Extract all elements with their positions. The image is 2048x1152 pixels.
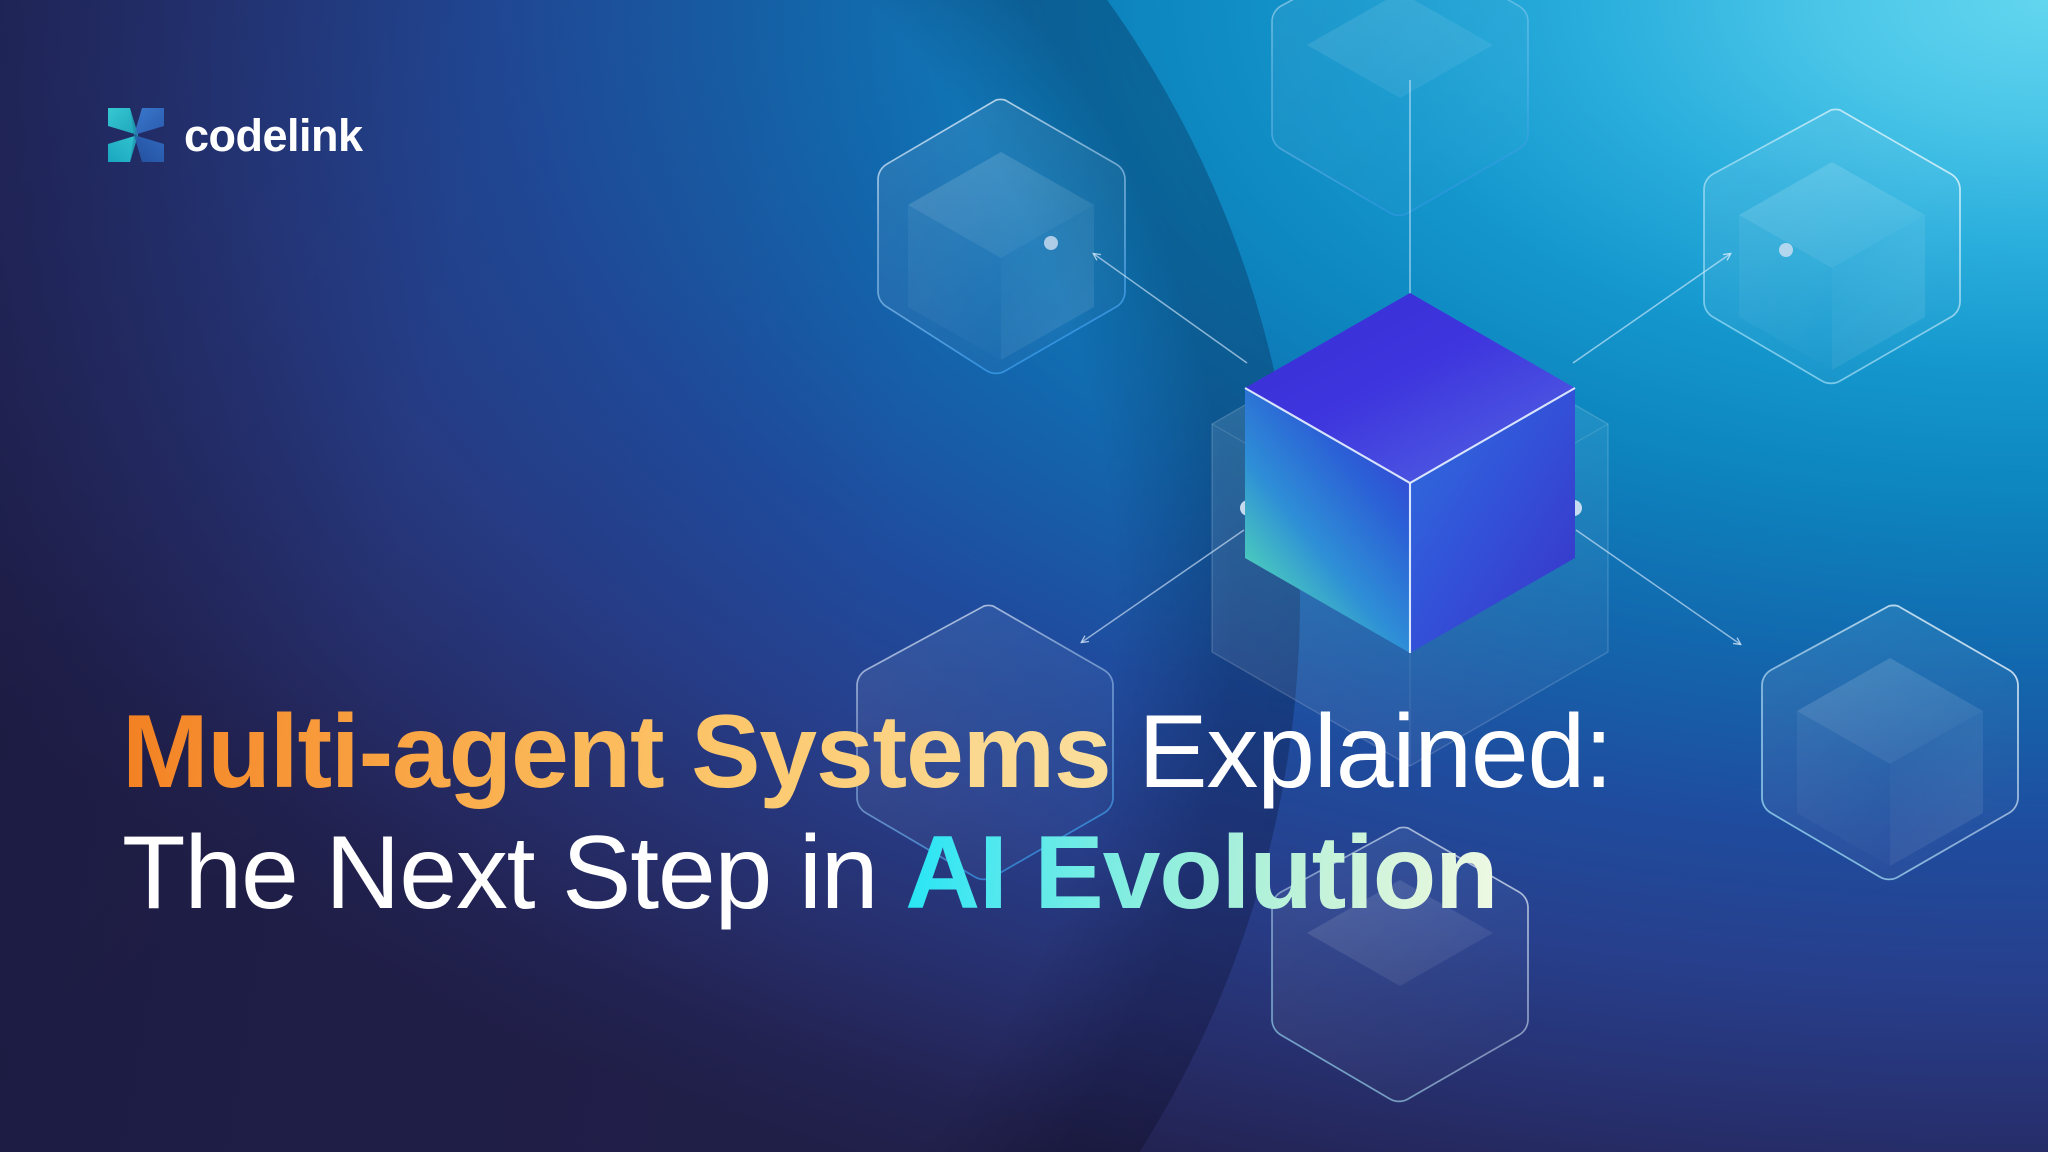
headline-line-2: The Next Step in AI Evolution (122, 813, 1762, 934)
hex-node-top-right (1704, 109, 1960, 383)
logo-wordmark: codelink (184, 113, 363, 158)
connector-dot-hex-top-right (1779, 243, 1793, 257)
hex-node-bottom-right (1762, 605, 2018, 879)
connector-dot-hex-top-left (1044, 236, 1058, 250)
headline-line-1: Multi-agent Systems Explained: (122, 692, 1762, 813)
connector-upper-left (1094, 254, 1247, 363)
hex-node-top-center (1272, 0, 1528, 215)
codelink-x-mark-icon (106, 104, 166, 166)
hero-banner: codelink Multi-agent Systems Explained: … (0, 0, 2048, 1152)
page-title: Multi-agent Systems Explained: The Next … (122, 692, 1762, 933)
headline-highlight-warm: Multi-agent Systems (122, 694, 1111, 810)
headline-line-2-rest: The Next Step in (122, 815, 905, 931)
headline-highlight-cool: AI Evolution (905, 815, 1497, 931)
agent-network-graphic (0, 0, 2048, 1152)
hex-node-top-left (878, 99, 1125, 373)
headline-line-1-rest: Explained: (1111, 694, 1612, 810)
brand-logo[interactable]: codelink (106, 104, 363, 166)
